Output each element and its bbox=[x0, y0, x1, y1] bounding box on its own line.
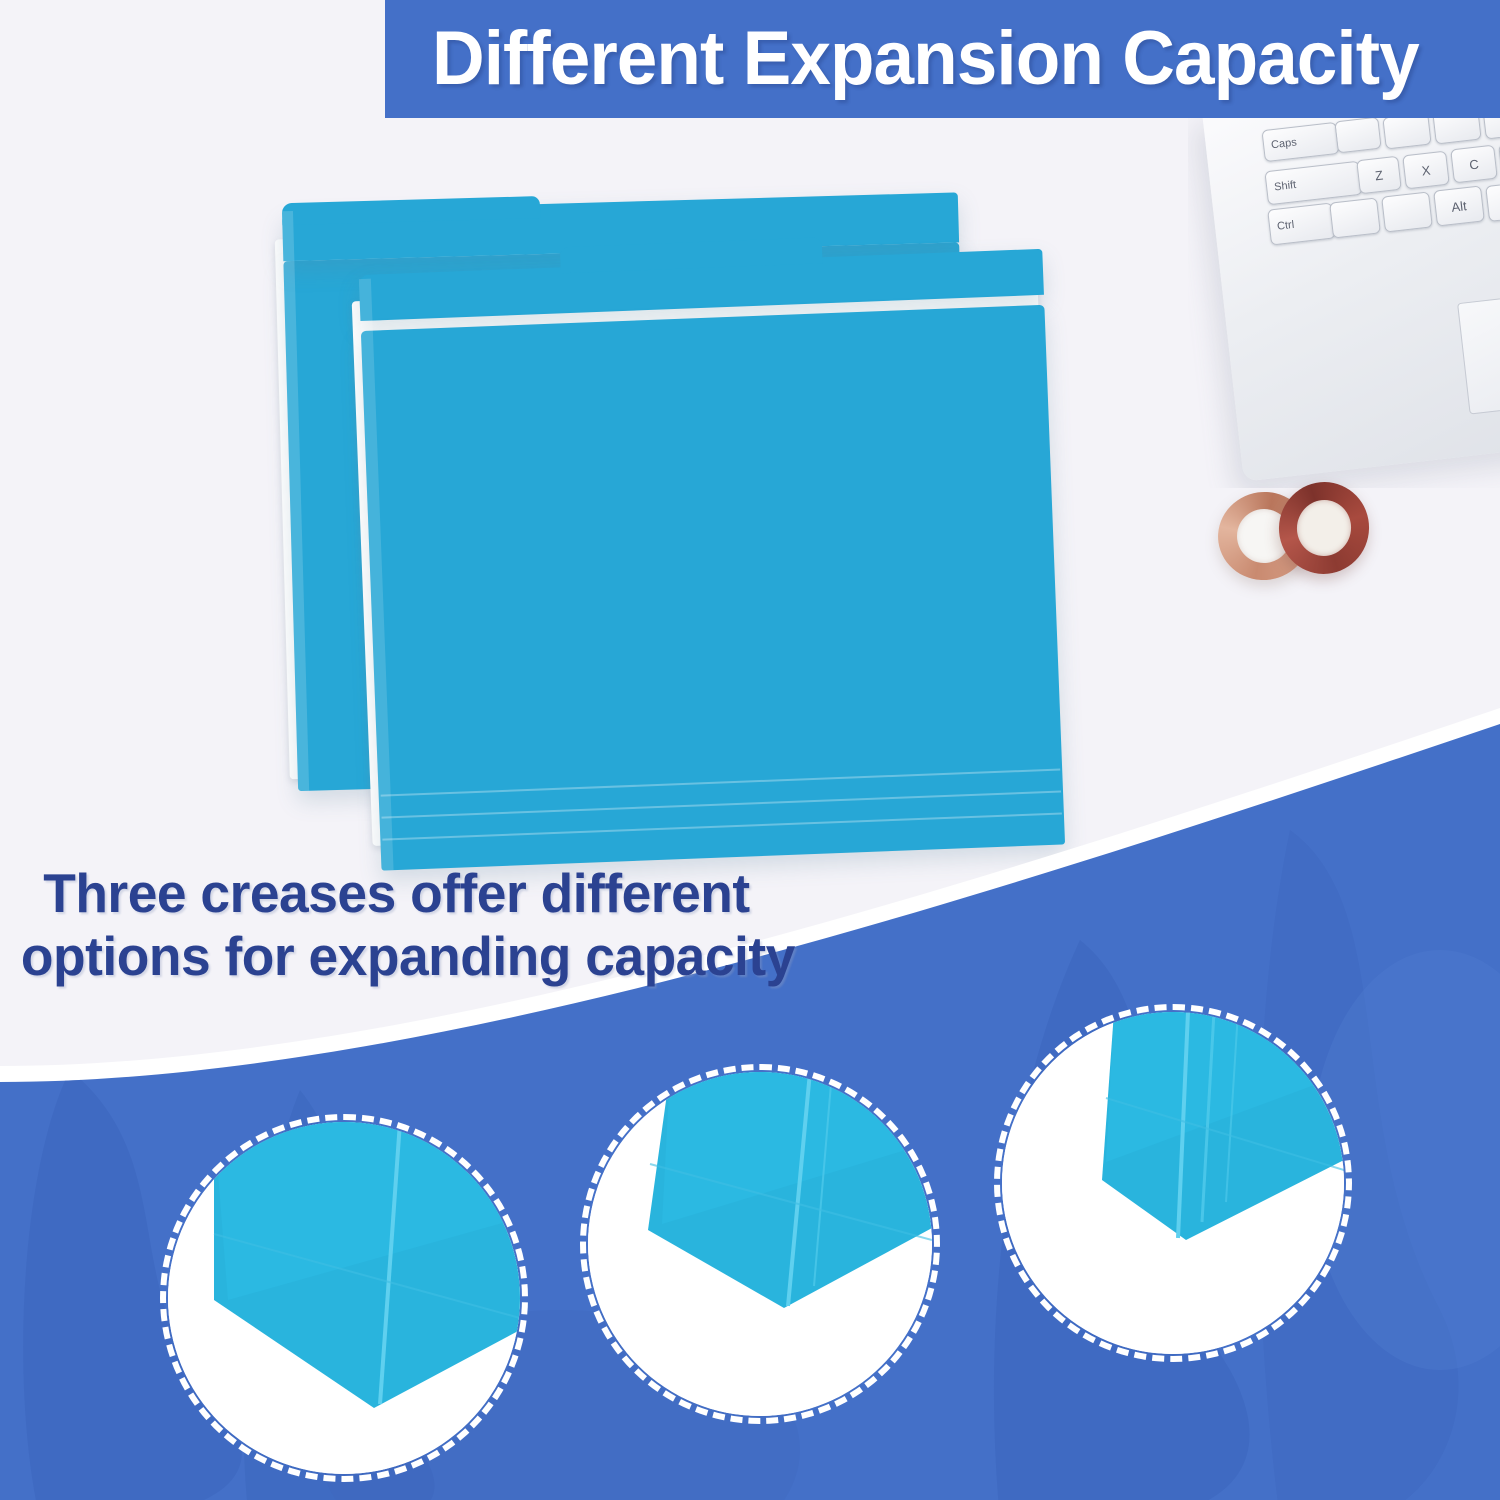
key-caret bbox=[1334, 118, 1381, 153]
page-title: Different Expansion Capacity bbox=[432, 6, 1419, 111]
laptop-photo: Caps Shift Z X C Ctrl Alt bbox=[1188, 118, 1500, 488]
subtitle-line-2: options for expanding capacity bbox=[18, 925, 891, 988]
feature-circle-2-border bbox=[580, 1064, 940, 1424]
key-win bbox=[1381, 191, 1433, 232]
key-c: C bbox=[1450, 145, 1498, 184]
key-z: Z bbox=[1356, 156, 1402, 195]
subtitle-line-1: Three creases offer different bbox=[18, 862, 891, 925]
key-alt: Alt bbox=[1433, 185, 1485, 226]
key-x: X bbox=[1402, 151, 1450, 190]
subtitle-text: Three creases offer different options fo… bbox=[18, 862, 891, 988]
key-blank-top-a bbox=[1382, 118, 1431, 150]
feature-circle-1-border bbox=[160, 1114, 528, 1482]
feature-circle-3-border bbox=[994, 1004, 1352, 1362]
product-infographic: Caps Shift Z X C Ctrl Alt bbox=[0, 0, 1500, 1500]
header-banner: Different Expansion Capacity bbox=[385, 0, 1500, 118]
key-ctrl: Ctrl bbox=[1267, 202, 1336, 245]
key-fn bbox=[1329, 197, 1381, 238]
